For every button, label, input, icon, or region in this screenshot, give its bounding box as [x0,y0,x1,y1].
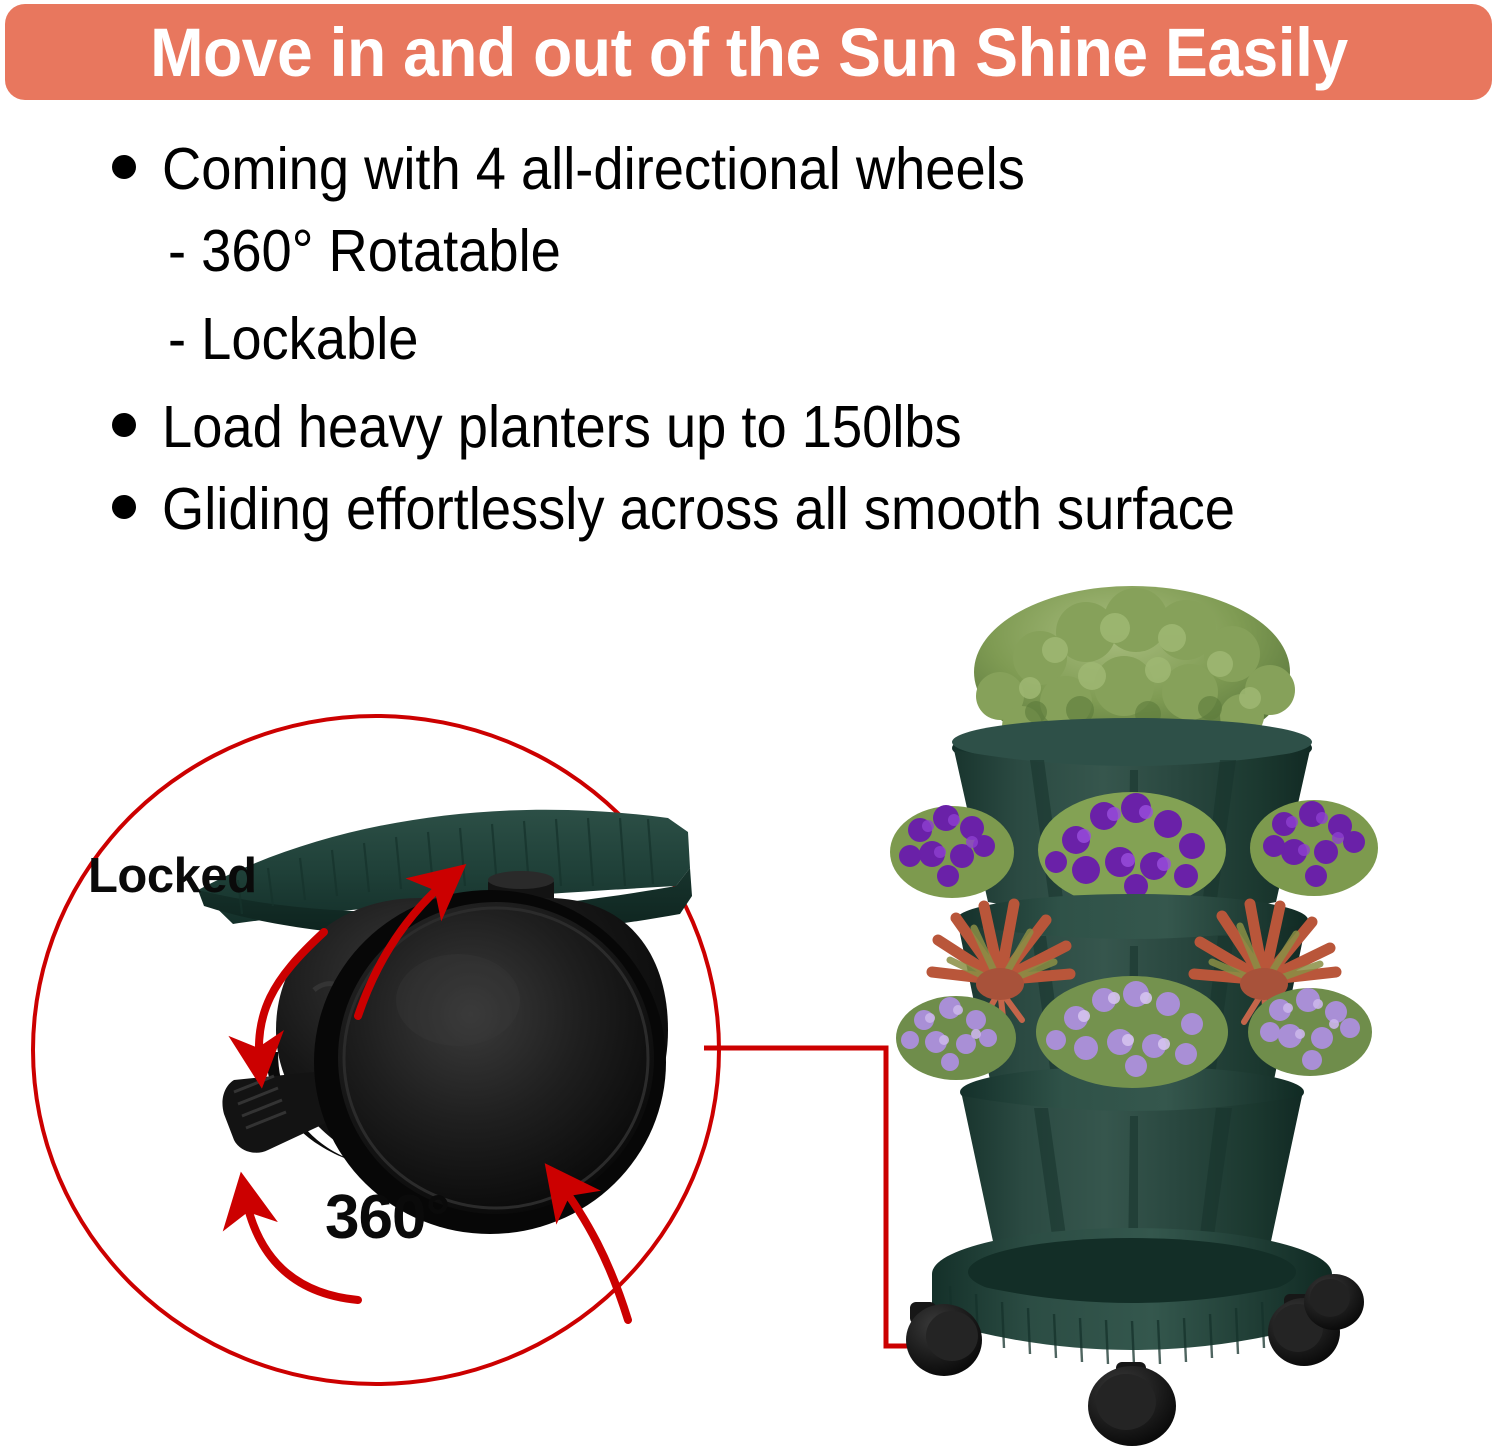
bullet-dot-icon [112,155,136,179]
base-caster-wheel [1304,1274,1364,1330]
planter-wheeled-base [906,1228,1364,1446]
locked-label: Locked [88,848,257,904]
feature-text: - 360° Rotatable [168,222,561,281]
bullet-dot-icon [112,413,136,437]
page-title: Move in and out of the Sun Shine Easily [150,18,1348,87]
feature-text: Load heavy planters up to 150lbs [162,398,962,457]
bullet-dot-icon [112,495,136,519]
base-caster-wheel [1088,1362,1176,1446]
list-item: Gliding effortlessly across all smooth s… [0,480,1500,562]
list-item: - Lockable [0,310,1500,398]
list-item: Coming with 4 all-directional wheels [0,140,1500,222]
feature-text: - Lockable [168,310,418,369]
caster-wheel-illustration [28,700,728,1400]
caster-wheel-callout [28,700,728,1400]
header-banner: Move in and out of the Sun Shine Easily [5,4,1492,100]
planter-illustration [880,580,1400,1450]
stackable-planter-tower [880,580,1400,1450]
feature-text: Coming with 4 all-directional wheels [162,140,1025,199]
feature-list: Coming with 4 all-directional wheels - 3… [0,140,1500,562]
plant-lavender-flowers [896,976,1372,1088]
plant-purple-flowers [890,792,1378,908]
list-item: - 360° Rotatable [0,222,1500,310]
list-item: Load heavy planters up to 150lbs [0,398,1500,480]
rotation-degree-label: 360° [325,1182,449,1253]
feature-text: Gliding effortlessly across all smooth s… [162,480,1235,539]
